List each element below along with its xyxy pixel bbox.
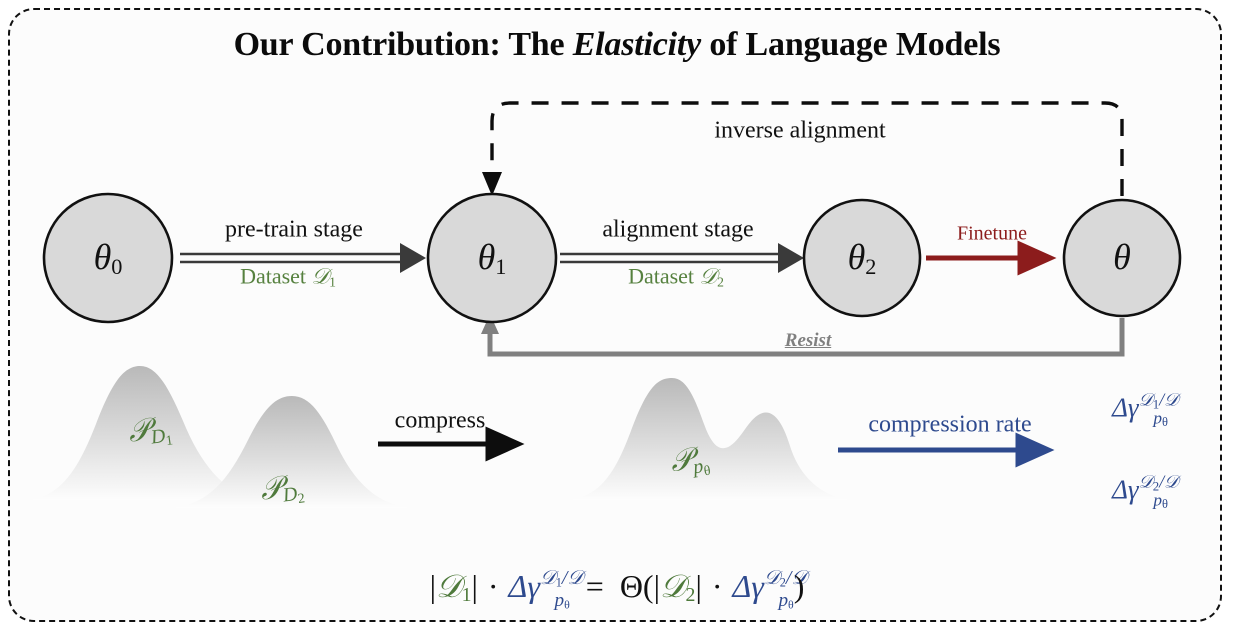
pretrain-dataset-label: Dataset 𝒟1 [240, 264, 336, 291]
alignment-stage-label: alignment stage [602, 217, 753, 244]
title-suffix: of Language Models [701, 26, 1000, 63]
compress-label: compress [395, 408, 486, 435]
main-equation: |𝒟1|·Δγ𝒟1/𝒟pθ = Θ(|𝒟2|·Δγ𝒟2/𝒟pθ) [0, 567, 1234, 612]
distribution-label-p-d1: 𝒫D1 [126, 410, 174, 454]
compression-rate-label: compression rate [868, 412, 1031, 439]
dataset-word: Dataset [240, 264, 311, 289]
eq-big-theta-open: Θ( [620, 568, 654, 604]
finetune-label: Finetune [957, 223, 1027, 246]
eq-equals: = [570, 568, 620, 604]
eq-paren-close: ) [794, 568, 805, 604]
eq-lhs-dataset: 𝒟1 [436, 568, 471, 604]
delta-gamma-d2: Δγ𝒟2/𝒟pθ [1112, 471, 1168, 512]
figure-canvas: Our Contribution: The Elasticity of Lang… [0, 0, 1234, 632]
theta-subscript: 2 [865, 254, 876, 279]
resist-label: Resist [785, 330, 831, 352]
dataset-symbol: 𝒟2 [700, 264, 724, 289]
theta-glyph: θ [848, 237, 866, 277]
inverse-alignment-label: inverse alignment [714, 118, 885, 145]
delta-gamma-glyph: Δγ [1112, 475, 1139, 505]
distribution-label-p-ptheta: 𝒫pθ [668, 440, 711, 483]
theta-glyph: θ [1113, 237, 1131, 277]
eq-rhs-bar-close: | [695, 568, 701, 604]
theta-subscript: 0 [111, 254, 122, 279]
figure-border [8, 8, 1222, 622]
theta-glyph: θ [94, 237, 112, 277]
alignment-dataset-label: Dataset 𝒟2 [628, 264, 724, 291]
eq-dot-lhs: · [478, 568, 509, 604]
eq-rhs-delta-gamma: Δγ𝒟2/𝒟pθ [733, 568, 794, 604]
figure-title: Our Contribution: The Elasticity of Lang… [0, 26, 1234, 64]
node-theta2-label: θ2 [848, 236, 877, 280]
dist-sub: D2 [281, 482, 305, 507]
eq-lhs-delta-gamma: Δγ𝒟1/𝒟pθ [509, 568, 570, 604]
delta-gamma-d1: Δγ𝒟1/𝒟pθ [1112, 389, 1168, 430]
pretrain-stage-label: pre-train stage [225, 217, 363, 244]
eq-rhs-dataset: 𝒟2 [660, 568, 695, 604]
dataset-symbol: 𝒟1 [312, 264, 336, 289]
theta-subscript: 1 [495, 254, 506, 279]
title-prefix: Our Contribution: The [234, 26, 573, 63]
eq-bar-close: | [471, 568, 477, 604]
node-theta1-label: θ1 [478, 236, 507, 280]
node-theta0-label: θ0 [94, 236, 123, 280]
node-theta-label: θ [1113, 236, 1131, 280]
dist-sub: pθ [692, 454, 711, 478]
theta-glyph: θ [478, 237, 496, 277]
delta-gamma-glyph: Δγ [1112, 393, 1139, 423]
delta-gamma-subscript: pθ [1153, 409, 1168, 431]
eq-dot-rhs: · [702, 568, 733, 604]
distribution-label-p-d2: 𝒫D2 [258, 468, 306, 512]
dist-sub: D1 [149, 424, 173, 449]
dataset-word: Dataset [628, 264, 699, 289]
delta-gamma-subscript: pθ [1153, 491, 1168, 513]
title-emphasis: Elasticity [573, 26, 701, 63]
